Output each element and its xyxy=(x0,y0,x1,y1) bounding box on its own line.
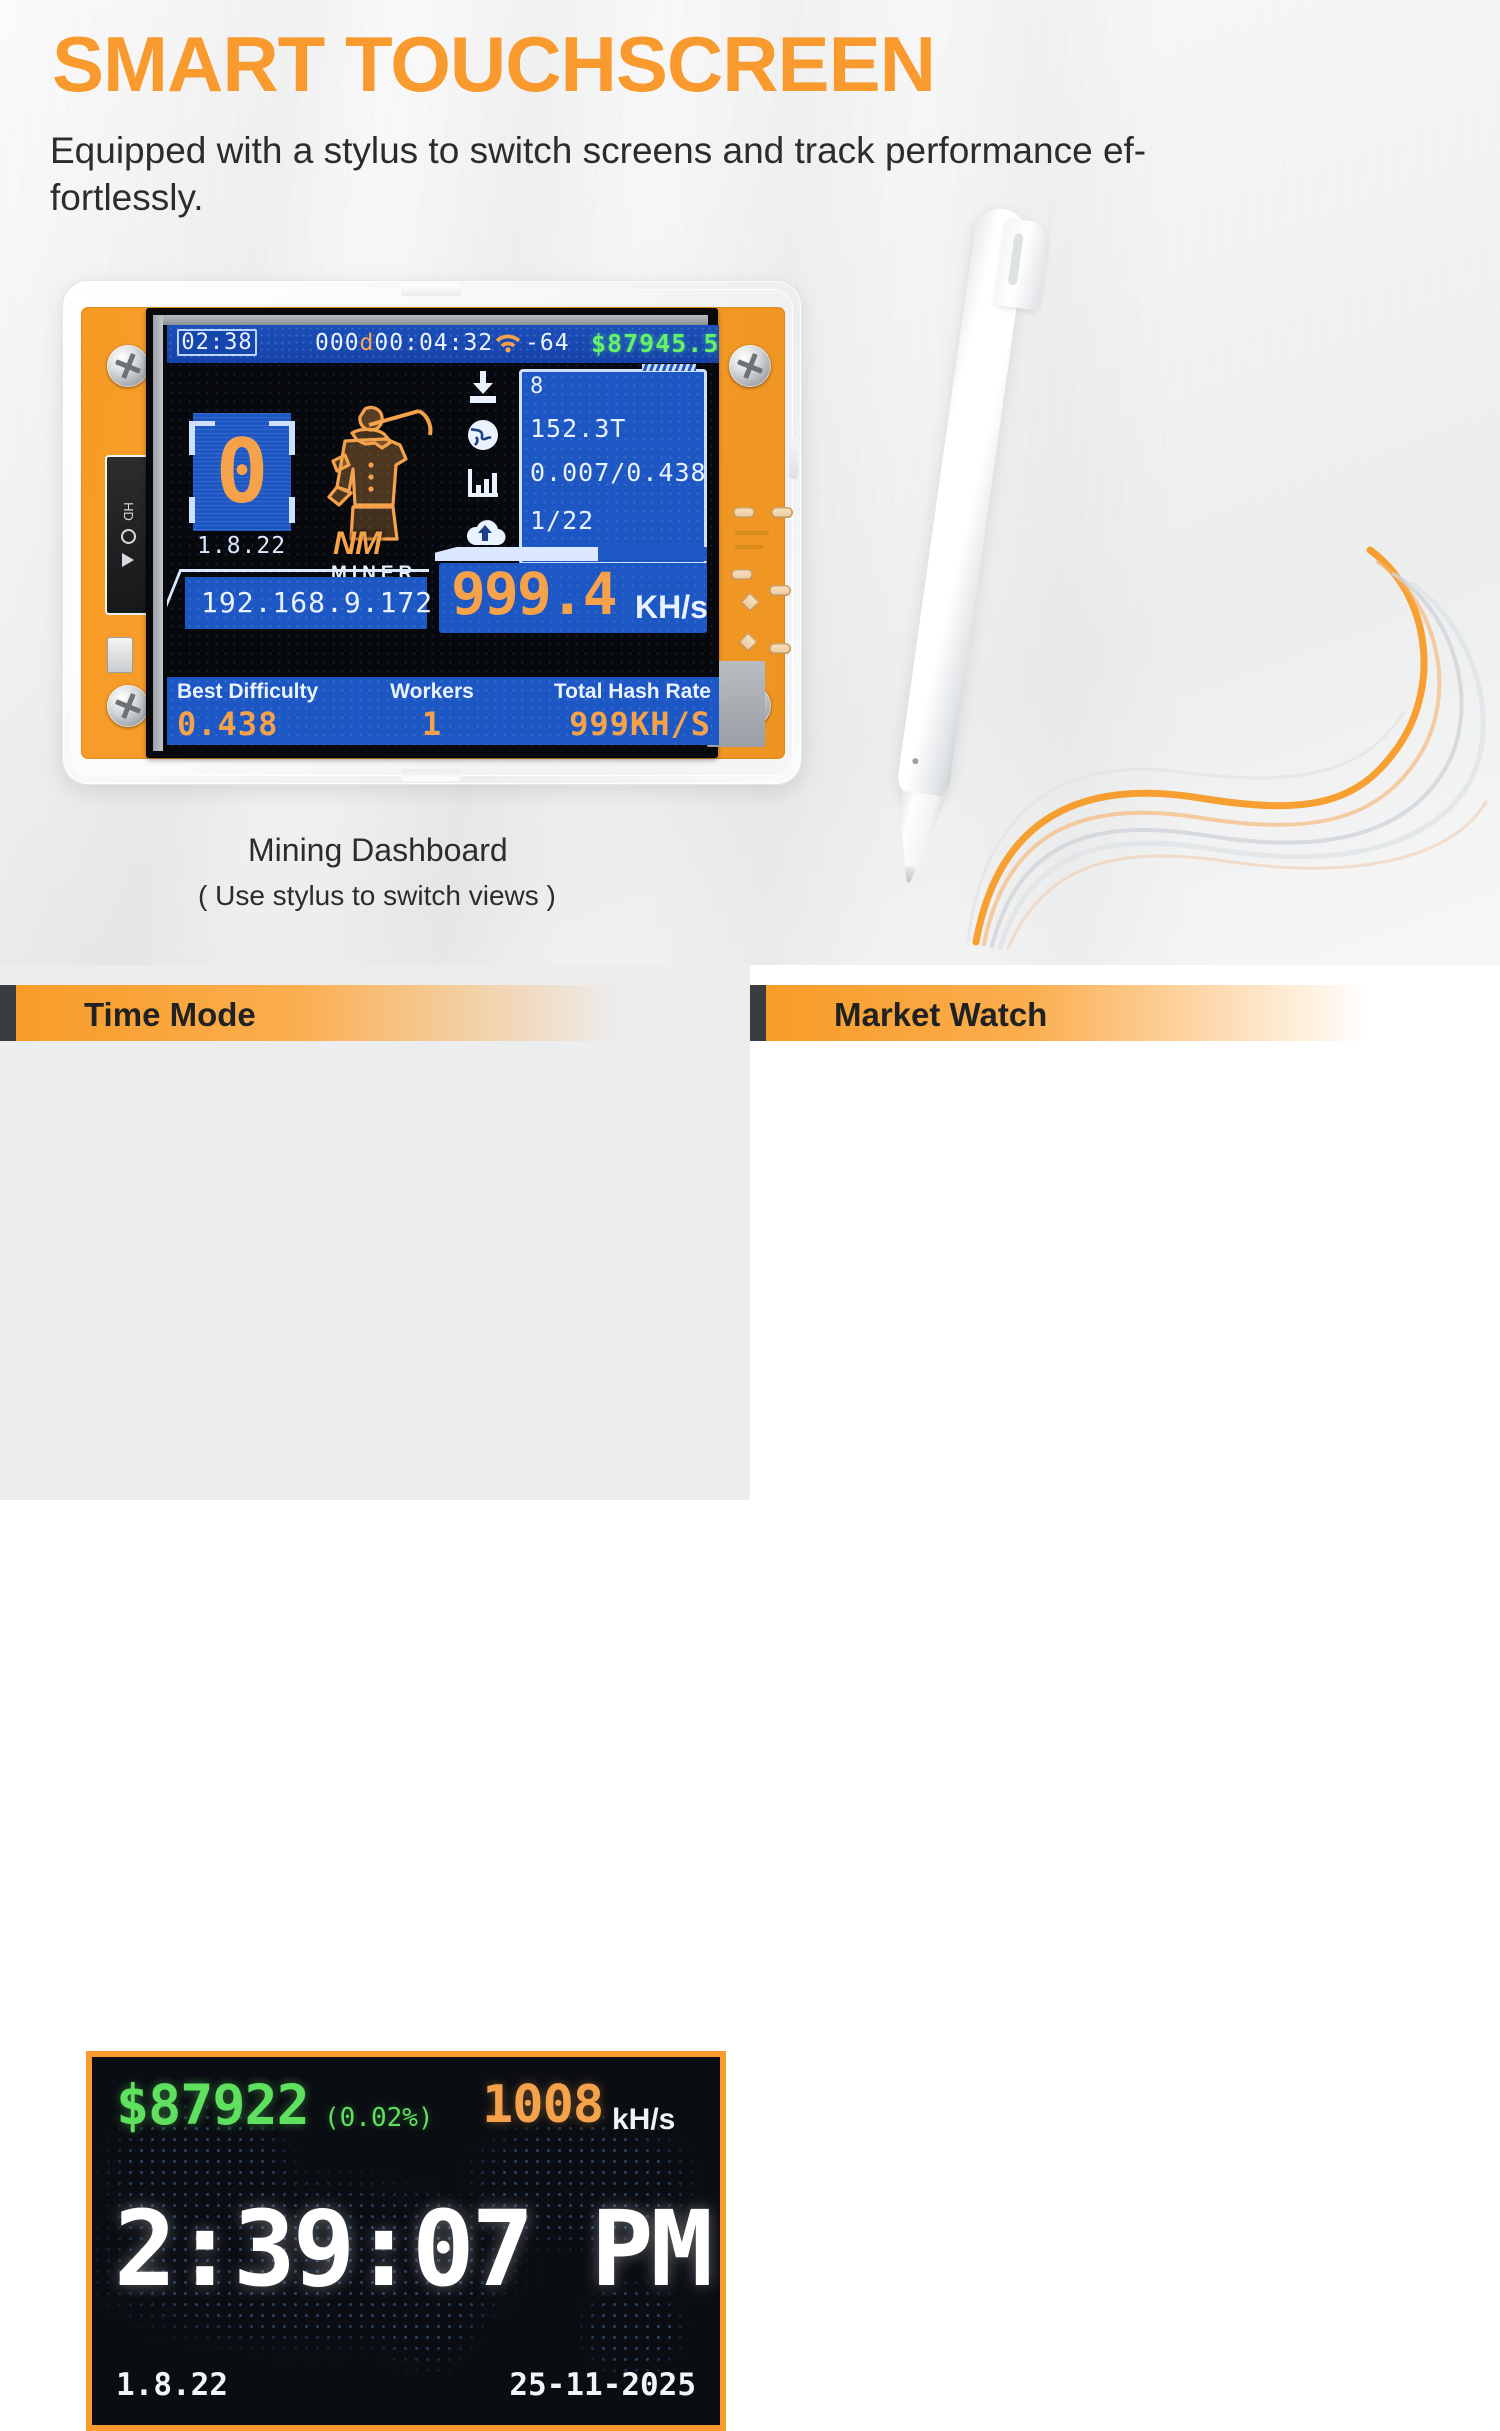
bezel-top-strip xyxy=(155,315,708,325)
time-mode-btc-price: $87922 xyxy=(116,2073,309,2137)
side-label-module: HD xyxy=(105,455,151,615)
stat-value-network-difficulty: 152.3T xyxy=(530,414,626,443)
stat-value-pool-shares: 1/22 xyxy=(530,506,594,535)
globe-icon xyxy=(463,417,509,459)
stats-panel-tab xyxy=(642,364,696,371)
market-watch-title: Market Watch xyxy=(834,996,1047,1034)
section-time-mode: Time Mode $87922 (0.02%) 1008 kH/s 2:39:… xyxy=(0,965,750,1500)
screen-firmware-version: 1.8.22 xyxy=(197,533,286,559)
time-mode-header-accent xyxy=(0,985,16,1041)
time-mode-hashrate: 1008 xyxy=(482,2075,603,2135)
shares-value: 0 xyxy=(193,413,291,531)
summary-label: Workers xyxy=(367,680,497,704)
summary-label: Best Difficulty xyxy=(177,680,318,704)
screen-hashrate-unit: KH/s xyxy=(635,589,708,626)
device-photo: HD xyxy=(62,280,802,785)
time-mode-screen[interactable]: $87922 (0.02%) 1008 kH/s 2:39:07 PM 1.8.… xyxy=(86,2051,726,2431)
screen-wifi-rssi: -64 xyxy=(525,330,570,356)
no-wifi-icon xyxy=(121,529,136,544)
screen-hashrate-value: 999.4 xyxy=(451,565,616,623)
screw-top-right xyxy=(729,345,771,387)
download-icon xyxy=(463,369,509,411)
pcb-trace xyxy=(735,545,763,549)
screen-stats-panel: 8 152.3T 0.007/0.438 1/22 xyxy=(519,369,707,565)
bezel-left-strip xyxy=(153,315,163,751)
wifi-icon xyxy=(493,332,523,356)
screen-hashrate-block: 999.4 KH/s xyxy=(439,563,707,633)
ip-bar-accent xyxy=(181,569,429,572)
subtitle-line-2: fortlessly. xyxy=(50,177,204,218)
time-mode-date: 25-11-2025 xyxy=(509,2367,696,2403)
solder-pad xyxy=(733,507,755,518)
solder-pad xyxy=(731,569,753,580)
solder-pad xyxy=(740,592,760,612)
reset-button[interactable] xyxy=(107,637,133,673)
market-watch-header-accent xyxy=(750,985,766,1041)
device-case: HD xyxy=(62,280,802,785)
pcb-trace xyxy=(735,531,769,535)
screen-status-bar: 02:38 000d00:04:32 -64 $87945.5 xyxy=(167,325,719,363)
summary-label: Total Hash Rate xyxy=(554,680,711,704)
screen-uptime: 000d00:04:32 xyxy=(315,330,493,356)
brand-logo: NM xyxy=(333,525,381,562)
screen-ip-address: 192.168.9.172 xyxy=(201,586,433,619)
time-mode-btc-change: (0.02%) xyxy=(324,2103,434,2133)
esd-warning-icon xyxy=(122,553,134,567)
time-mode-firmware-version: 1.8.22 xyxy=(116,2367,228,2403)
time-mode-hashrate-unit: kH/s xyxy=(612,2103,675,2137)
hero-section: SMART TOUCHSCREEN Equipped with a stylus… xyxy=(0,0,1500,965)
time-mode-title: Time Mode xyxy=(84,996,256,1034)
screen-ip-bar: 192.168.9.172 xyxy=(185,577,427,629)
screen-clock: 02:38 xyxy=(177,329,257,356)
screen-summary-bar: Best Difficulty 0.438 Workers 1 Total Ha… xyxy=(167,677,719,745)
solder-pad xyxy=(769,585,791,596)
stat-value-shares: 8 xyxy=(530,374,544,399)
device-caption-note: ( Use stylus to switch views ) xyxy=(198,880,556,912)
summary-total-hash-rate: Total Hash Rate 999KH/S xyxy=(554,680,711,743)
solder-pad xyxy=(771,507,793,518)
solder-pad xyxy=(738,632,758,652)
pcb-board: HD xyxy=(81,307,785,759)
case-side-notch xyxy=(789,437,798,479)
summary-value: 0.438 xyxy=(177,705,318,743)
summary-best-difficulty: Best Difficulty 0.438 xyxy=(177,680,318,743)
summary-value: 1 xyxy=(367,705,497,743)
screw-top-left xyxy=(107,345,149,387)
section-market-watch: Market Watch BTC$87,942.821.2%ETH$2,918.… xyxy=(750,965,1500,1500)
screen-btc-price: $87945.5 xyxy=(591,329,719,358)
page-subtitle: Equipped with a stylus to switch screens… xyxy=(50,128,1440,221)
device-caption-title: Mining Dashboard xyxy=(248,832,508,869)
time-mode-clock: 2:39:07 PM xyxy=(92,2197,726,2301)
bar-chart-icon xyxy=(463,465,509,507)
hd-label: HD xyxy=(121,502,136,521)
summary-workers: Workers 1 xyxy=(367,680,497,743)
hashrate-accent xyxy=(435,547,707,561)
screw-bottom-left xyxy=(107,685,149,727)
page-title: SMART TOUCHSCREEN xyxy=(52,25,935,103)
case-hinge-top xyxy=(401,284,461,296)
case-hinge-bottom xyxy=(401,769,461,781)
subtitle-line-1: Equipped with a stylus to switch screens… xyxy=(50,130,1146,171)
solder-pad xyxy=(769,643,791,654)
mining-dashboard-screen[interactable]: 02:38 000d00:04:32 -64 $87945.5 xyxy=(167,325,719,745)
stat-value-difficulty-ratio: 0.007/0.438 xyxy=(530,458,707,487)
summary-value: 999KH/S xyxy=(554,705,711,743)
decorative-swoosh xyxy=(880,480,1500,950)
shares-card: 0 xyxy=(193,413,291,531)
